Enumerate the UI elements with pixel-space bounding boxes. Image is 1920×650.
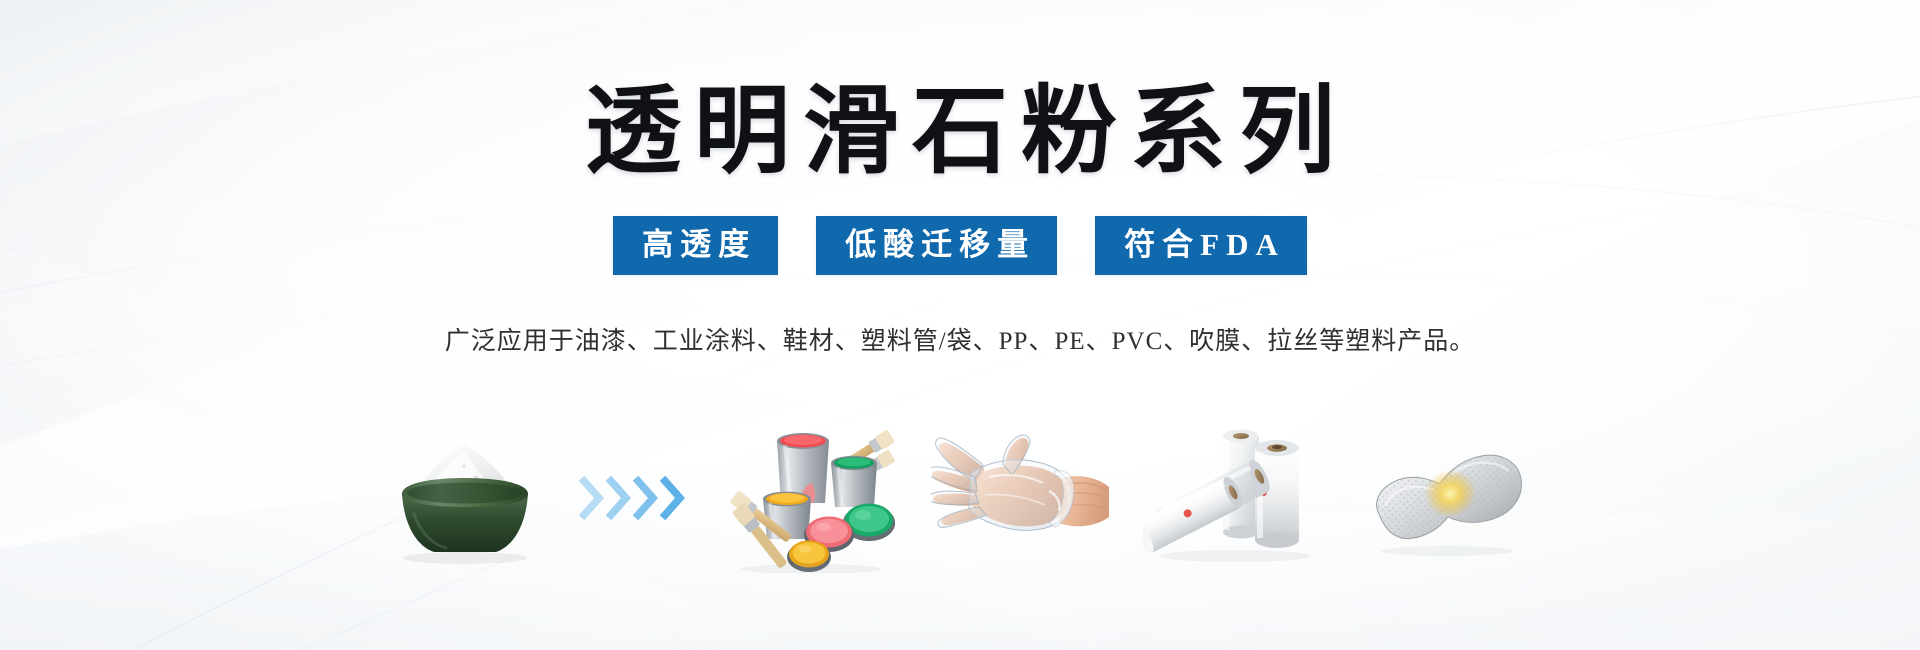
product-image-paint-cans: 彩色油漆罐与刷子 [714,423,904,573]
banner-content: 透明滑石粉系列 高透度 低酸迁移量 符合FDA 广泛应用于油漆、工业涂料、鞋材、… [0,0,1920,650]
product-image-talc-powder-bowl: 绿色碗装白色滑石粉 [380,423,550,573]
status-badge-fda-compliant: 符合FDA [1095,216,1307,275]
paint-cans-icon [719,423,899,573]
product-image-film-rolls: 白色薄膜卷 [1138,423,1328,573]
product-image-shoe-sole: 灰色鞋底 [1350,423,1540,573]
feature-badge-group: 高透度 低酸迁移量 符合FDA [613,216,1307,275]
application-description: 广泛应用于油漆、工业涂料、鞋材、塑料管/袋、PP、PE、PVC、吹膜、拉丝等塑料… [445,321,1476,357]
product-image-plastic-glove: 手戴透明塑料手套 [926,423,1116,573]
chevron-right-icon [660,475,686,521]
chevron-right-icon [579,475,605,521]
process-flow-arrows: 四个蓝色箭头 [572,423,692,573]
page-title: 透明滑石粉系列 [572,84,1348,180]
plastic-glove-icon [931,433,1111,563]
status-badge-high-transparency: 高透度 [613,216,778,275]
chevron-right-icon [633,475,659,521]
film-rolls-icon [1143,428,1323,568]
status-badge-low-acid-migration: 低酸迁移量 [816,216,1057,275]
shoe-sole-icon [1355,433,1535,563]
product-application-strip: 绿色碗装白色滑石粉 [380,418,1540,578]
chevron-right-icon [606,475,632,521]
talc-powder-bowl-icon [380,428,550,568]
product-banner: 透明滑石粉系列 高透度 低酸迁移量 符合FDA 广泛应用于油漆、工业涂料、鞋材、… [0,0,1920,650]
